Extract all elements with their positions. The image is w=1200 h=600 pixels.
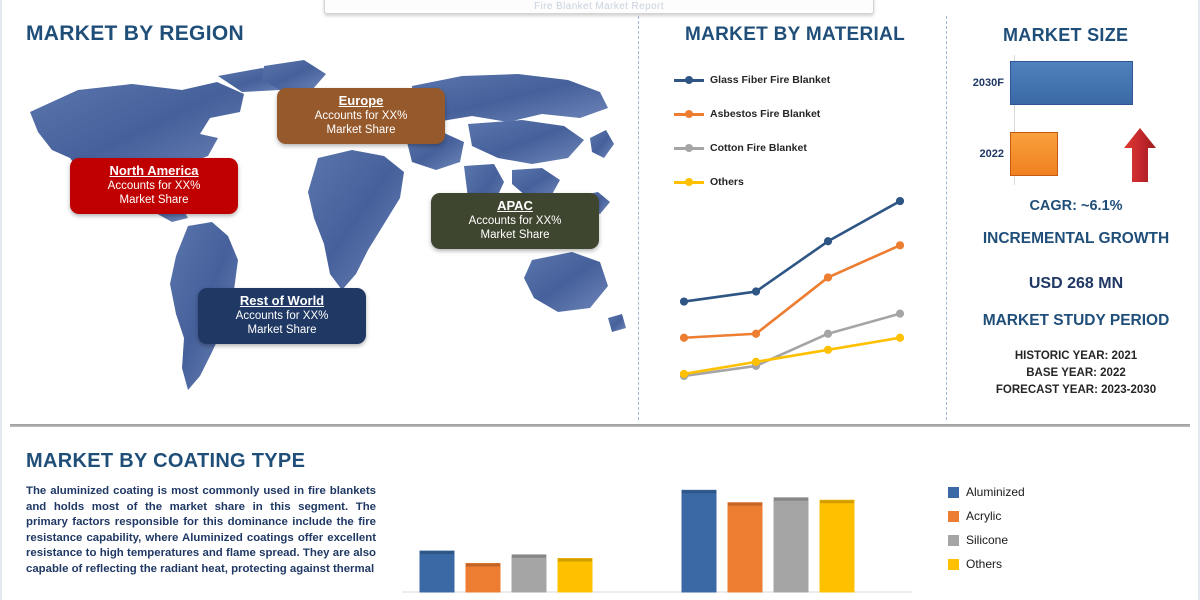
legend-item[interactable]: Aluminized <box>948 480 1098 504</box>
region-name: North America <box>80 163 228 178</box>
region-name: Rest of World <box>208 293 356 308</box>
market-size-label: 2022 <box>960 148 1010 160</box>
legend-item[interactable]: Cotton Fire Blanket <box>674 131 924 165</box>
region-share-line1: Accounts for XX% <box>208 310 356 324</box>
line-marker-icon <box>674 108 704 120</box>
region-share-line1: Accounts for XX% <box>80 180 228 194</box>
legend-item[interactable]: Asbestos Fire Blanket <box>674 97 924 131</box>
color-swatch-icon <box>948 487 959 498</box>
incremental-growth-title: INCREMENTAL GROWTH <box>952 230 1200 248</box>
horizontal-divider <box>10 424 1190 427</box>
legend-item[interactable]: Others <box>948 552 1098 576</box>
coating-description: The aluminized coating is most commonly … <box>26 484 376 578</box>
section-title-coating-type: MARKET BY COATING TYPE <box>26 450 305 473</box>
region-share-line1: Accounts for XX% <box>441 215 589 229</box>
legend-label: Acrylic <box>966 509 1001 523</box>
region-name: APAC <box>441 198 589 213</box>
legend-label: Others <box>966 557 1002 571</box>
region-share-line2: Market Share <box>287 124 435 138</box>
legend-item[interactable]: Acrylic <box>948 504 1098 528</box>
market-size-label: 2030F <box>960 77 1010 89</box>
infographic-page: Fire Blanket Market Report MARKET BY REG… <box>0 0 1200 600</box>
material-line-chart <box>662 175 922 400</box>
section-title-material: MARKET BY MATERIAL <box>685 24 905 46</box>
region-share-line1: Accounts for XX% <box>287 110 435 124</box>
region-callout-rest-of-world[interactable]: Rest of World Accounts for XX% Market Sh… <box>198 288 366 344</box>
legend-label: Cotton Fire Blanket <box>710 142 807 154</box>
line-marker-icon <box>674 142 704 154</box>
market-size-chart: 2030F 2022 <box>960 55 1180 185</box>
vertical-divider-left <box>638 16 639 420</box>
cagr-value: CAGR: ~6.1% <box>952 198 1200 214</box>
market-size-row-2030f: 2030F <box>960 59 1180 107</box>
coating-legend: Aluminized Acrylic Silicone Others <box>948 480 1098 576</box>
growth-arrow-icon <box>1123 127 1157 183</box>
line-marker-icon <box>674 74 704 86</box>
region-callout-apac[interactable]: APAC Accounts for XX% Market Share <box>431 193 599 249</box>
market-study-period-title: MARKET STUDY PERIOD <box>952 312 1200 330</box>
legend-item[interactable]: Glass Fiber Fire Blanket <box>674 63 924 97</box>
market-size-bar-2030f <box>1010 61 1133 105</box>
historic-year: HISTORIC YEAR: 2021 <box>952 350 1200 362</box>
section-title-region: MARKET BY REGION <box>26 22 244 46</box>
coating-bar-chart <box>402 462 912 600</box>
section-title-market-size: MARKET SIZE <box>1003 25 1128 46</box>
color-swatch-icon <box>948 535 959 546</box>
region-share-line2: Market Share <box>441 229 589 243</box>
region-share-line2: Market Share <box>208 324 356 338</box>
vertical-divider-right <box>946 16 947 420</box>
market-size-bar-2022 <box>1010 132 1058 176</box>
base-year: BASE YEAR: 2022 <box>952 367 1200 379</box>
region-callout-europe[interactable]: Europe Accounts for XX% Market Share <box>277 88 445 144</box>
color-swatch-icon <box>948 559 959 570</box>
forecast-year: FORECAST YEAR: 2023-2030 <box>952 384 1200 396</box>
legend-label: Glass Fiber Fire Blanket <box>710 74 830 86</box>
incremental-growth-value: USD 268 MN <box>952 275 1200 293</box>
top-title-bar: Fire Blanket Market Report <box>324 0 874 14</box>
legend-label: Silicone <box>966 533 1008 547</box>
legend-label: Aluminized <box>966 485 1025 499</box>
region-share-line2: Market Share <box>80 194 228 208</box>
region-callout-north-america[interactable]: North America Accounts for XX% Market Sh… <box>70 158 238 214</box>
legend-label: Asbestos Fire Blanket <box>710 108 820 120</box>
top-title-bar-text: Fire Blanket Market Report <box>325 1 873 12</box>
color-swatch-icon <box>948 511 959 522</box>
legend-item[interactable]: Silicone <box>948 528 1098 552</box>
region-name: Europe <box>287 93 435 108</box>
